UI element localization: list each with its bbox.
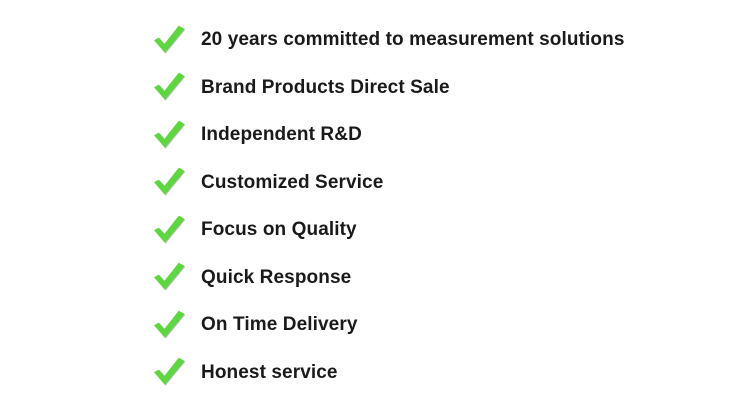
check-icon [153, 71, 187, 103]
list-item: Brand Products Direct Sale [0, 64, 750, 112]
check-icon [153, 166, 187, 198]
list-item-label: 20 years committed to measurement soluti… [201, 30, 625, 49]
list-item-label: Customized Service [201, 173, 383, 192]
check-icon [153, 119, 187, 151]
list-item-label: Independent R&D [201, 125, 362, 144]
check-icon [153, 261, 187, 293]
list-item-label: Brand Products Direct Sale [201, 78, 450, 97]
list-item: 20 years committed to measurement soluti… [0, 16, 750, 64]
list-item: Customized Service [0, 159, 750, 207]
list-item: Focus on Quality [0, 206, 750, 254]
list-item: Quick Response [0, 254, 750, 302]
feature-list: 20 years committed to measurement soluti… [0, 0, 750, 416]
list-item-label: Focus on Quality [201, 220, 357, 239]
check-icon [153, 309, 187, 341]
list-item: Independent R&D [0, 111, 750, 159]
check-icon [153, 356, 187, 388]
list-item-label: Quick Response [201, 268, 351, 287]
list-item: On Time Delivery [0, 301, 750, 349]
list-item-label: On Time Delivery [201, 315, 358, 334]
check-icon [153, 214, 187, 246]
list-item: Honest service [0, 349, 750, 397]
check-icon [153, 24, 187, 56]
list-item-label: Honest service [201, 363, 338, 382]
